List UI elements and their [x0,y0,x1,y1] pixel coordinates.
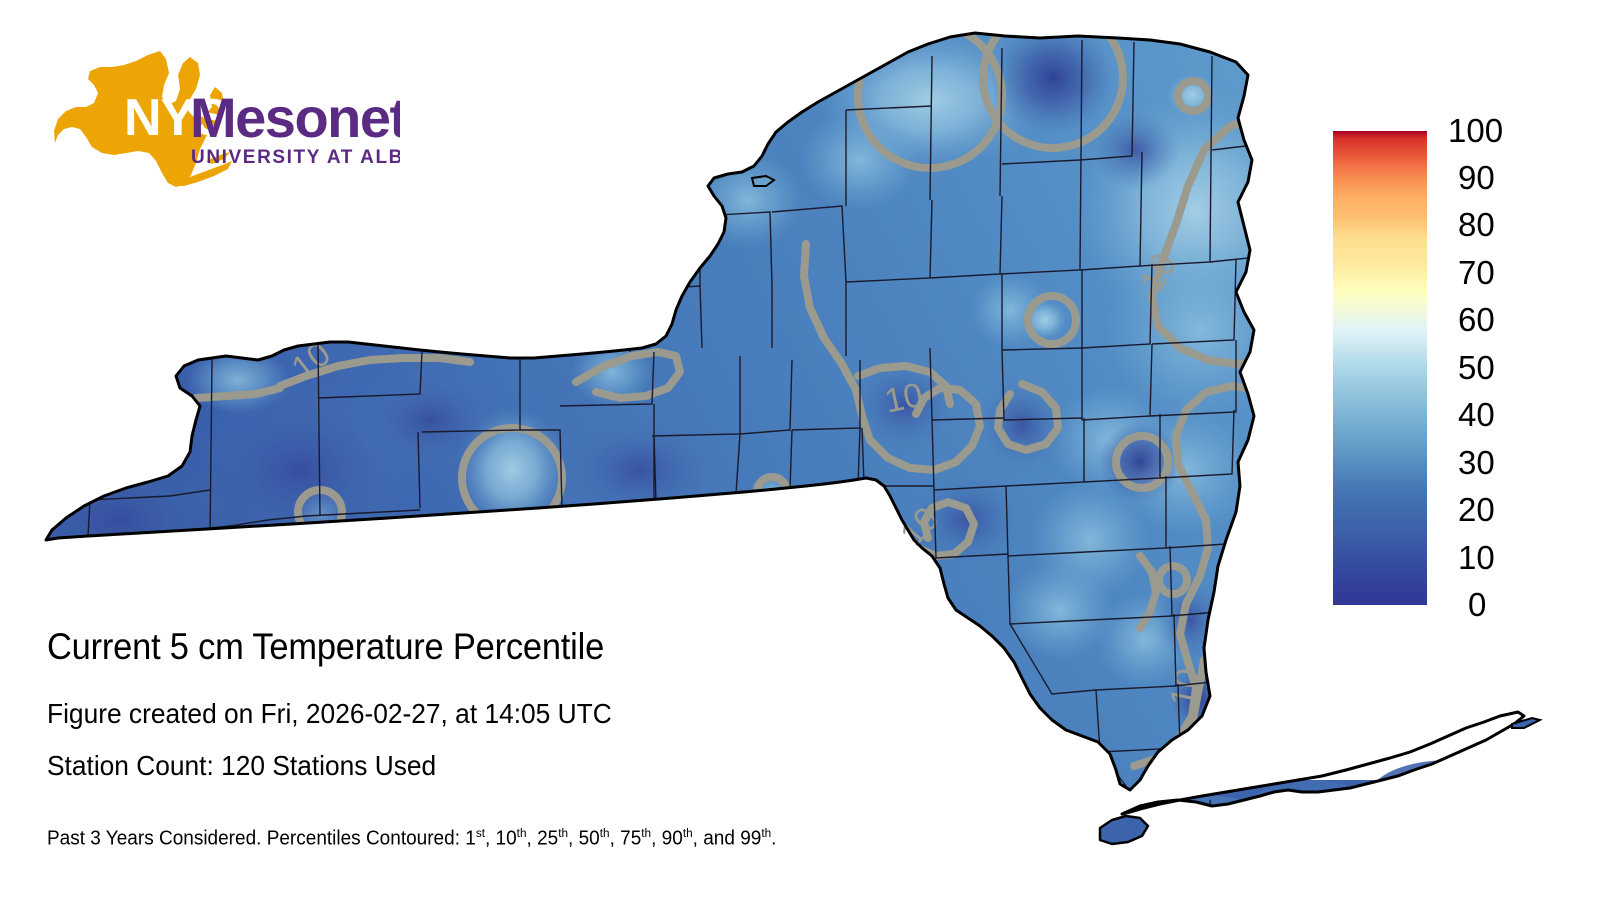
colorbar-tick: 50 [1458,351,1495,384]
field-blob [350,365,510,475]
colorbar-tick: 30 [1458,446,1495,479]
colorbar-tick: 80 [1458,208,1495,241]
percentile-footnote: Past 3 Years Considered. Percentiles Con… [47,826,776,851]
colorbar-tick: 0 [1468,588,1486,621]
contour-label: 10 [1163,665,1208,710]
footnote-n: 1 [465,828,476,850]
figure-created-text: Figure created on Fri, 2026-02-27, at 14… [47,698,612,730]
colorbar-ticks: 100 90 80 70 60 50 40 30 20 10 0 [1448,131,1588,605]
footnote-conjunction: and [703,828,735,850]
field-blob [10,450,230,590]
footnote-sfx: st [476,826,485,840]
li-base-field [1080,780,1550,900]
footnote-n: 99 [740,828,761,850]
colorbar-tick: 60 [1458,303,1495,336]
colorbar-tick: 100 [1448,114,1503,147]
footnote-sfx: th [517,826,527,840]
footnote-n: 25 [537,828,558,850]
contour-line [876,496,900,628]
footnote-sfx: th [558,826,568,840]
fishers-island-outline [1512,718,1540,728]
footnote-sfx: th [641,826,651,840]
footnote-n: 75 [620,828,641,850]
footnote-sfx: th [600,826,610,840]
colorbar-gradient [1333,131,1427,605]
colorbar-tick: 10 [1458,541,1495,574]
field-blob [693,152,803,248]
page-title: Current 5 cm Temperature Percentile [47,626,604,668]
colorbar [1333,131,1427,605]
field-blob [1370,760,1530,830]
footnote-lead: Past 3 Years Considered. Percentiles Con… [47,828,465,850]
field-blob [550,410,730,530]
footnote-n: 10 [496,828,517,850]
footnote-sfx: th [761,826,771,840]
colorbar-tick: 90 [1458,161,1495,194]
contour-label: 10 [881,376,926,421]
footnote-n: 90 [662,828,683,850]
footnote-sfx: th [683,826,693,840]
contour-ring [758,569,788,599]
colorbar-tick: 20 [1458,493,1495,526]
colorbar-tick: 40 [1458,398,1495,431]
colorbar-tick: 70 [1458,256,1495,289]
station-count-text: Station Count: 120 Stations Used [47,750,436,782]
field-blob [736,554,804,606]
colorbar-svg [1333,131,1427,605]
staten-island-outline [1100,816,1148,844]
county-line [1210,800,1214,860]
long-island-field [1080,760,1550,900]
footnote-n: 50 [579,828,600,850]
